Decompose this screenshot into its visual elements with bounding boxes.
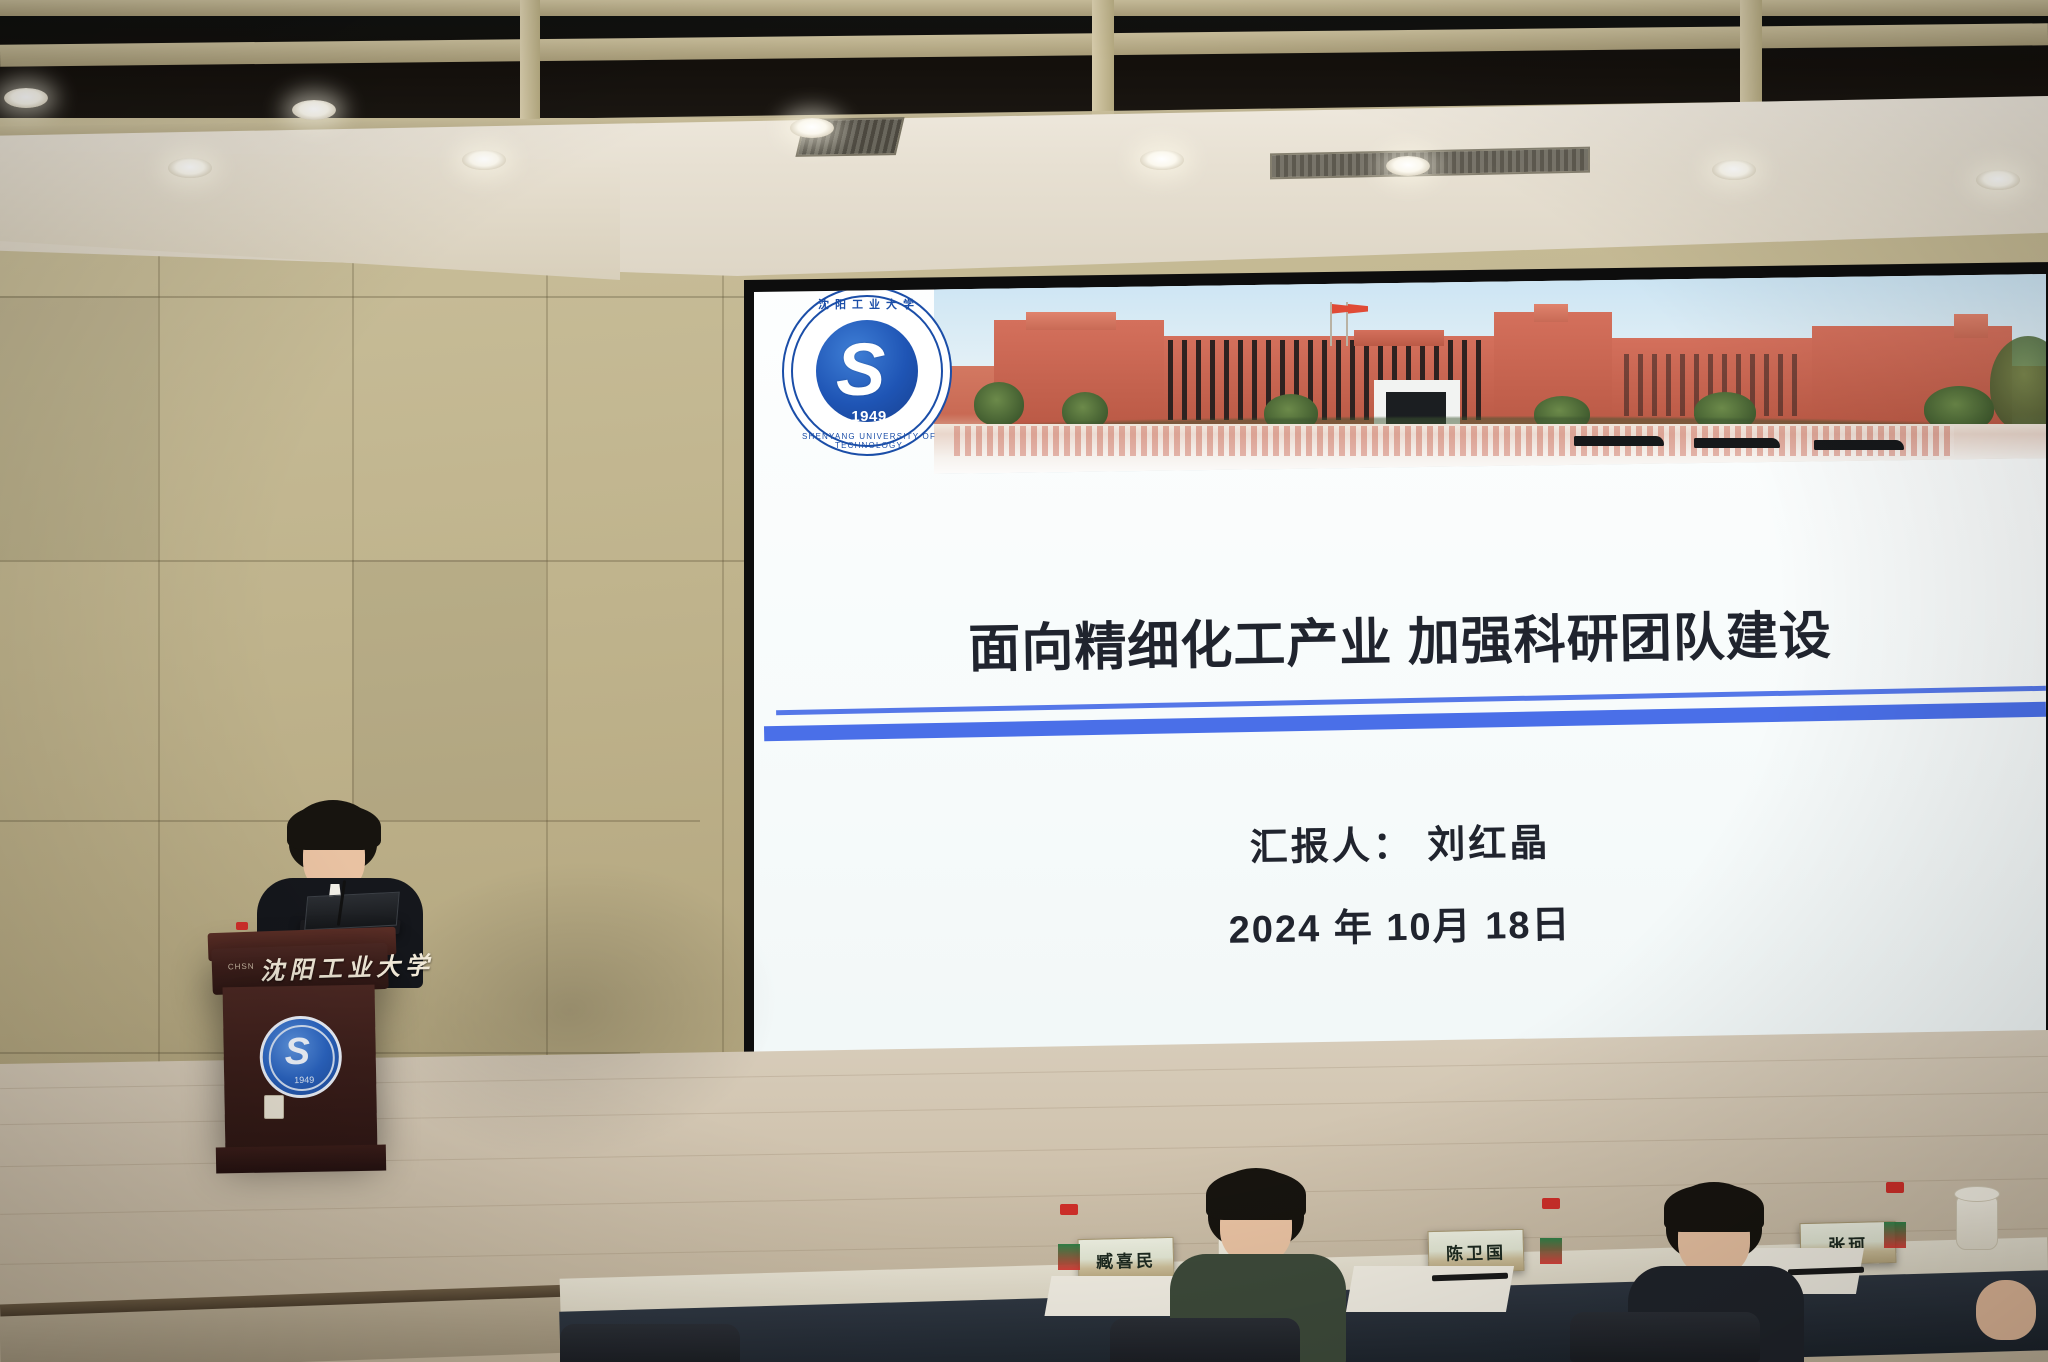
podium-body: S 1949	[223, 985, 378, 1156]
ceiling-strut	[1740, 0, 1762, 116]
ceiling-downlight	[168, 158, 212, 178]
ceiling-downlight	[4, 88, 48, 108]
ceiling-strut	[520, 0, 540, 120]
campus-building	[1534, 304, 1568, 322]
chair-back	[1570, 1312, 1760, 1362]
presentation-slide: S 1949 沈阳工业大学 SHENYANG UNIVERSITY OF TEC…	[754, 274, 2046, 1098]
seal-monogram: S	[836, 326, 885, 414]
ceiling-downlight	[1140, 150, 1184, 170]
campus-building	[1354, 330, 1444, 346]
slide-title: 面向精细化工产业 加强科研团队建设	[754, 590, 2046, 685]
water-bottle[interactable]	[233, 928, 250, 965]
attendee-hair	[1206, 1170, 1306, 1220]
ceiling-strut	[1092, 0, 1114, 120]
nameplate: 臧喜民	[1078, 1237, 1175, 1281]
podium-university-seal: S 1949	[259, 1015, 342, 1098]
wall-panel	[352, 560, 546, 820]
bottle-cap	[1060, 1204, 1078, 1215]
slide-presenter-line: 汇报人： 刘红晶	[754, 804, 2046, 879]
ceiling-downlight	[462, 150, 506, 170]
slide-date-line: 2024 年 10月 18日	[754, 886, 2046, 961]
bottle-cap	[1542, 1198, 1560, 1209]
tea-cup-lid	[1954, 1186, 2000, 1202]
university-seal: S 1949 沈阳工业大学 SHENYANG UNIVERSITY OF TEC…	[782, 286, 952, 456]
bottle-cap	[236, 922, 248, 930]
bottle-label	[1058, 1244, 1080, 1270]
attendee-hair	[1664, 1184, 1764, 1232]
campus-banner-photo	[934, 274, 2046, 474]
attendee-hand	[1976, 1280, 2036, 1340]
water-reflection	[954, 426, 1954, 456]
chair-back	[1110, 1318, 1300, 1362]
chair-back	[560, 1324, 740, 1362]
campus-building	[1954, 314, 1988, 338]
tea-cup[interactable]	[1956, 1196, 1998, 1250]
laptop-screen[interactable]	[304, 892, 400, 931]
nameplate-text: 陈卫国	[1446, 1238, 1507, 1264]
wall-panel	[0, 296, 158, 560]
podium-seal-monogram: S	[284, 1029, 310, 1075]
ceiling-downlight	[1712, 160, 1756, 180]
presenter-hair	[287, 804, 381, 850]
flagpole	[1330, 302, 1332, 346]
ceiling-downlight	[790, 118, 834, 138]
seal-english-name: SHENYANG UNIVERSITY OF TECHNOLOGY	[784, 432, 954, 450]
bottle-label	[1540, 1238, 1562, 1264]
campus-building	[1026, 312, 1116, 330]
podium-script-text: 沈阳工业大学	[259, 945, 434, 986]
ceiling-downlight	[1386, 156, 1430, 176]
podium-base	[216, 1145, 386, 1174]
bottle-cap	[1886, 1182, 1904, 1193]
seal-year: 1949	[784, 408, 954, 425]
document-paper[interactable]	[1044, 1276, 1181, 1316]
attendee-figure	[1966, 1280, 2048, 1362]
boat	[1574, 436, 1664, 446]
ceiling-downlight	[292, 100, 336, 120]
light-switch[interactable]	[264, 1095, 284, 1119]
boat	[1694, 438, 1780, 448]
auditorium-scene: S 1949 沈阳工业大学 SHENYANG UNIVERSITY OF TEC…	[0, 0, 2048, 1362]
ceiling-downlight	[1976, 170, 2020, 190]
boat	[1814, 440, 1904, 450]
projection-screen[interactable]: S 1949 沈阳工业大学 SHENYANG UNIVERSITY OF TEC…	[754, 274, 2046, 1098]
seal-chinese-name: 沈阳工业大学	[784, 296, 954, 312]
podium-seal-year: 1949	[263, 1074, 345, 1085]
nameplate-text: 臧喜民	[1096, 1246, 1157, 1272]
bottle-label	[1884, 1222, 1906, 1248]
